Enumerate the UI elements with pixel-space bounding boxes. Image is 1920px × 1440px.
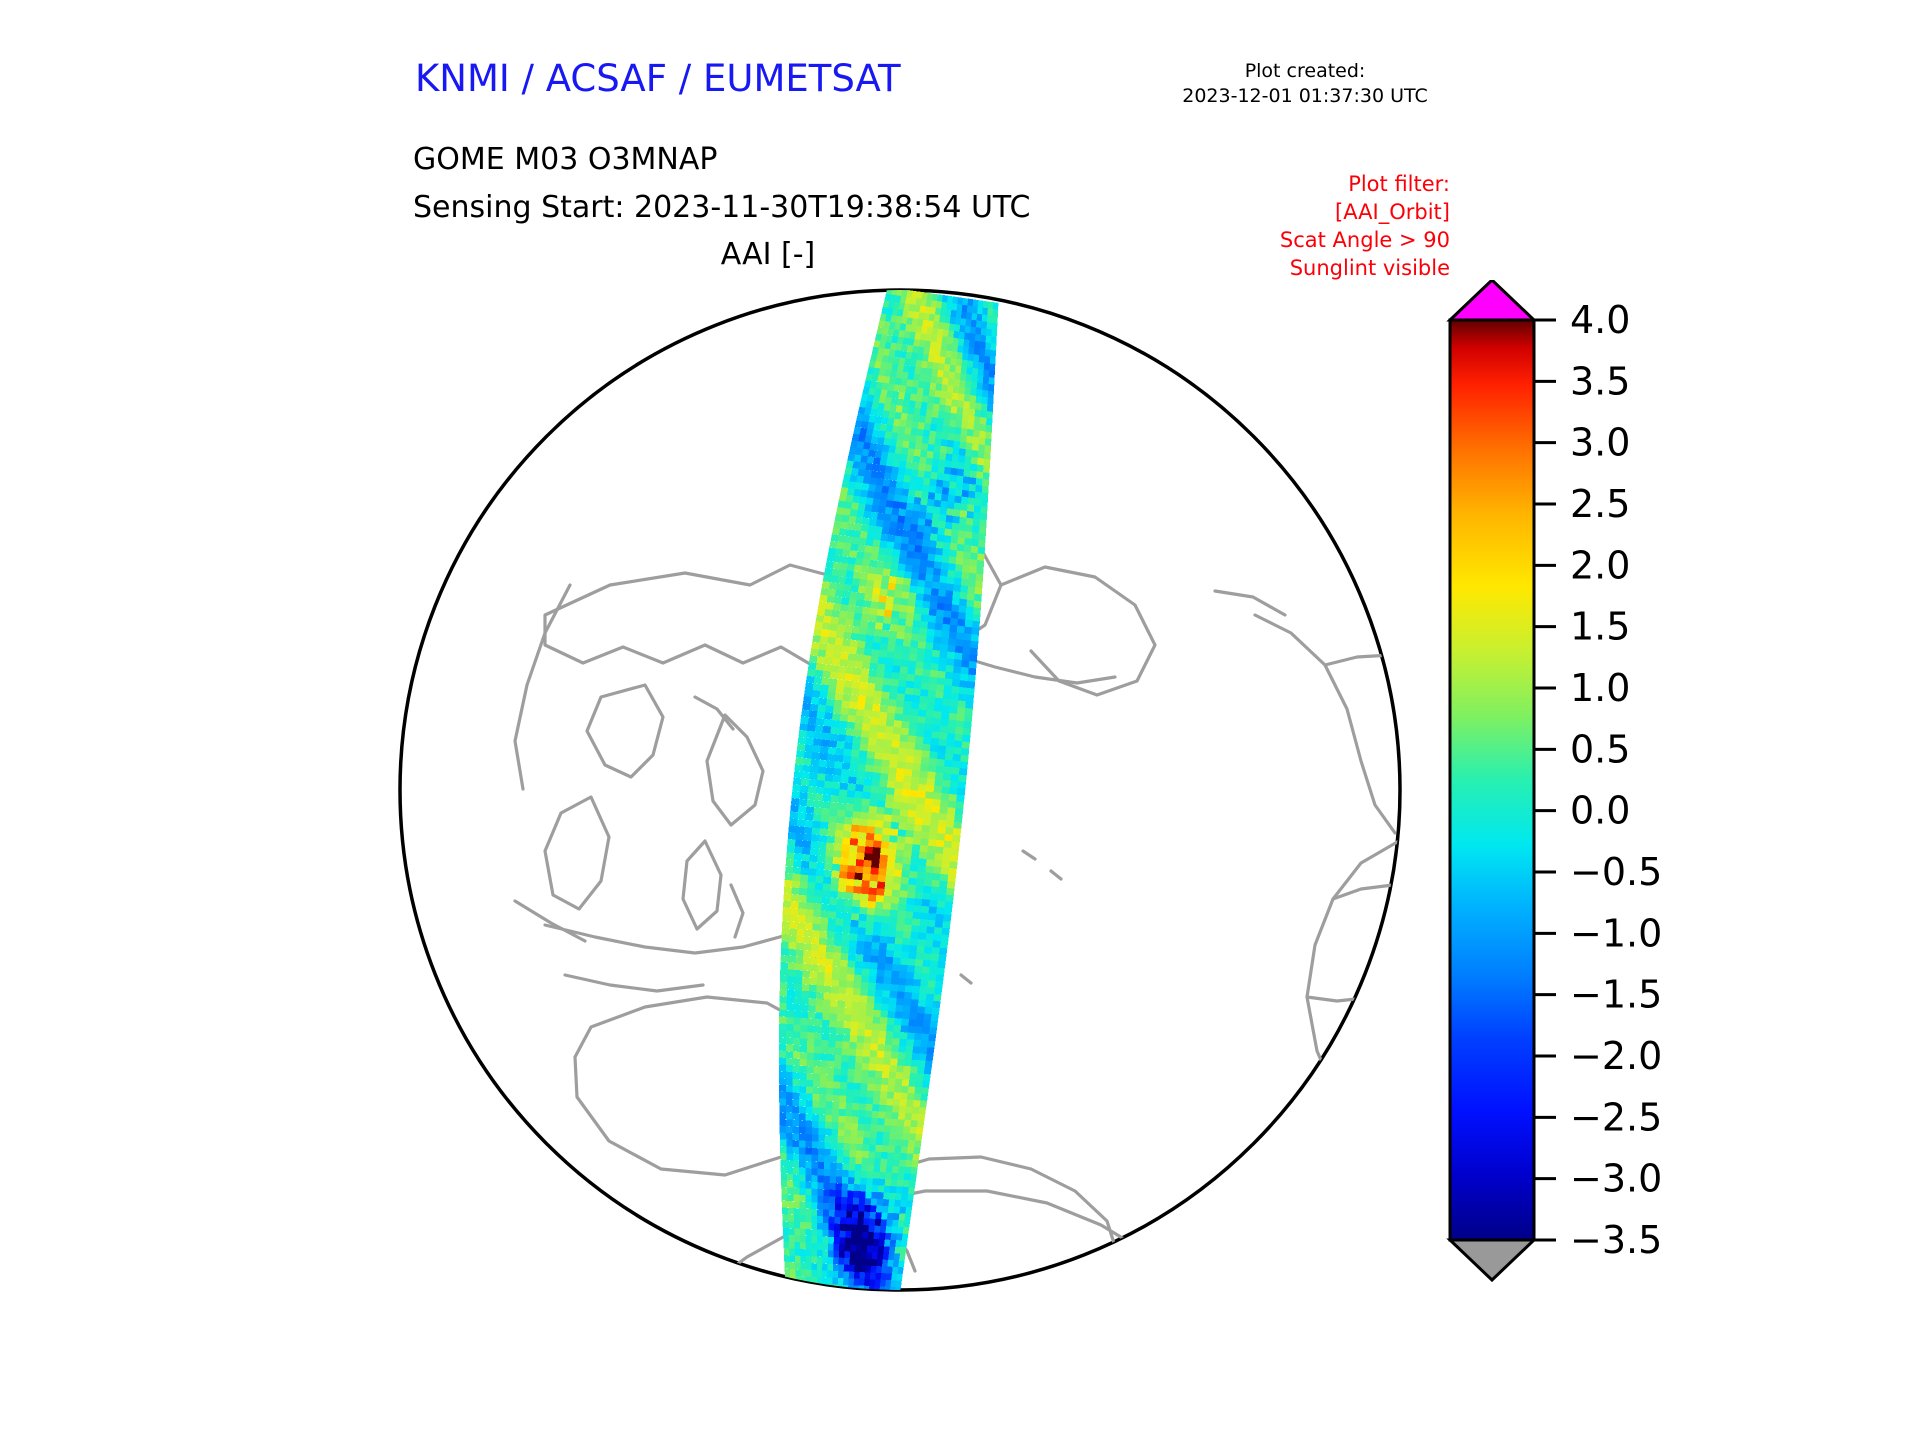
- colorbar: 4.03.53.02.52.01.51.00.50.0−0.5−1.0−1.5−…: [1440, 280, 1840, 1340]
- colorbar-tick-label: 3.0: [1570, 421, 1630, 465]
- sensing-start-line: Sensing Start: 2023-11-30T19:38:54 UTC: [413, 190, 1030, 225]
- colorbar-tick-label: 1.0: [1570, 666, 1630, 710]
- plot-filter-block: Plot filter: [AAI_Orbit] Scat Angle > 90…: [1140, 170, 1450, 282]
- colorbar-under-range-arrow: [1450, 1240, 1534, 1280]
- colorbar-tick-label: −3.5: [1570, 1218, 1662, 1262]
- colorbar-tick-label: 0.0: [1570, 789, 1630, 833]
- filter-line-3: Scat Angle > 90: [1140, 226, 1450, 254]
- colorbar-tick-label: 2.5: [1570, 482, 1630, 526]
- colorbar-gradient-bar: [1450, 320, 1534, 1240]
- colorbar-tick-label: 1.5: [1570, 605, 1630, 649]
- colorbar-over-range-arrow: [1450, 280, 1534, 320]
- colorbar-tick-label: −1.0: [1570, 911, 1662, 955]
- colorbar-tick-label: −0.5: [1570, 850, 1662, 894]
- colorbar-tick-label: 3.5: [1570, 359, 1630, 403]
- organization-title: KNMI / ACSAF / EUMETSAT: [415, 57, 901, 100]
- colorbar-tick-label: 2.0: [1570, 543, 1630, 587]
- colorbar-tick-label: −3.0: [1570, 1157, 1662, 1201]
- orthographic-globe: [395, 285, 1405, 1345]
- plot-created-label: Plot created:: [1160, 60, 1450, 82]
- colorbar-tick-labels: 4.03.53.02.52.01.51.00.50.0−0.5−1.0−1.5−…: [1570, 298, 1662, 1262]
- colorbar-ticks: [1534, 320, 1556, 1240]
- colorbar-tick-label: −2.5: [1570, 1095, 1662, 1139]
- plot-page: KNMI / ACSAF / EUMETSAT Plot created: 20…: [0, 0, 1920, 1440]
- filter-line-1: Plot filter:: [1140, 170, 1450, 198]
- map-panel: [395, 285, 1405, 1345]
- filter-line-4: Sunglint visible: [1140, 254, 1450, 282]
- colorbar-tick-label: −1.5: [1570, 973, 1662, 1017]
- filter-line-2: [AAI_Orbit]: [1140, 198, 1450, 226]
- colorbar-tick-label: 0.5: [1570, 727, 1630, 771]
- colorbar-tick-label: 4.0: [1570, 298, 1630, 342]
- plot-created-timestamp: 2023-12-01 01:37:30 UTC: [1160, 85, 1450, 107]
- instrument-product-line: GOME M03 O3MNAP: [413, 142, 717, 177]
- colorbar-tick-label: −2.0: [1570, 1034, 1662, 1078]
- variable-title: AAI [-]: [413, 237, 1123, 272]
- colorbar-panel: 4.03.53.02.52.01.51.00.50.0−0.5−1.0−1.5−…: [1440, 280, 1840, 1340]
